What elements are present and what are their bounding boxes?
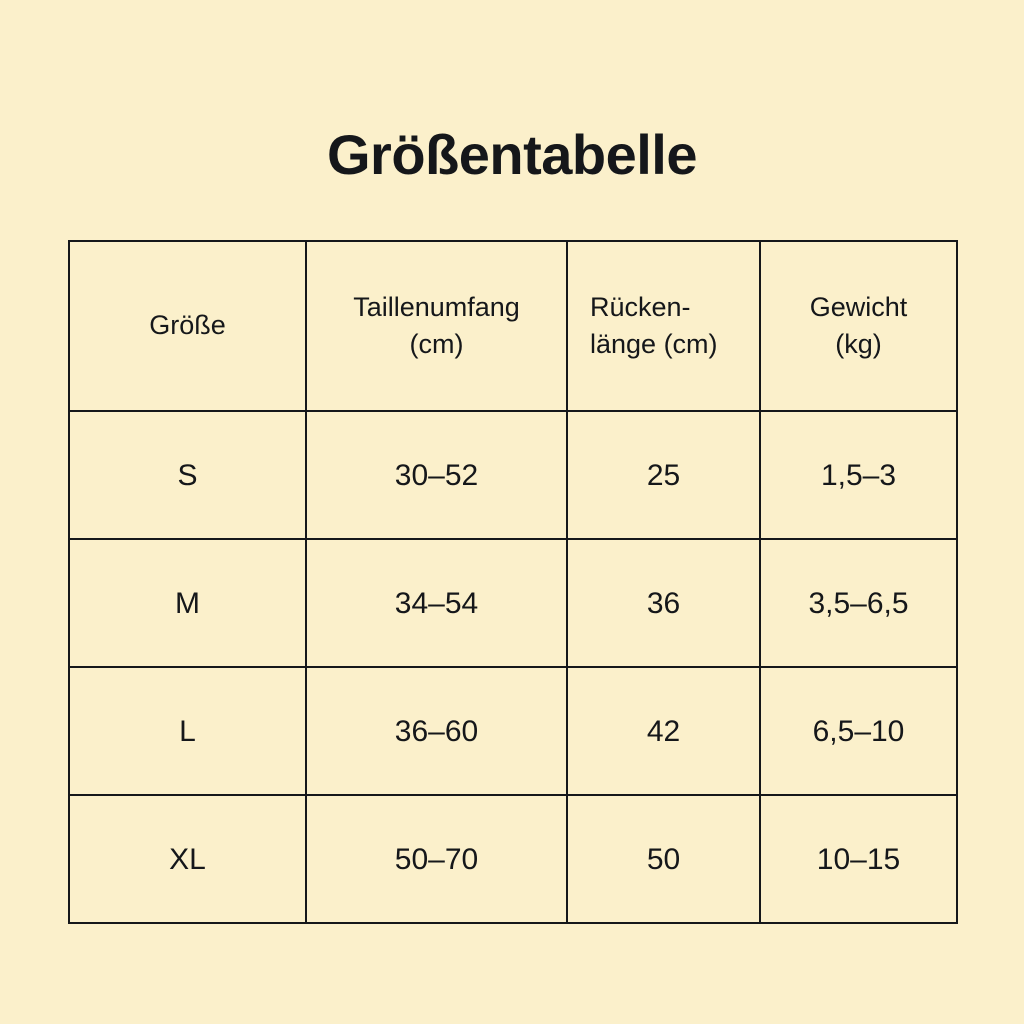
cell-size: XL bbox=[69, 795, 306, 923]
table-row: S 30–52 25 1,5–3 bbox=[69, 411, 957, 539]
cell-back-length: 50 bbox=[567, 795, 760, 923]
cell-weight: 3,5–6,5 bbox=[760, 539, 957, 667]
column-header-waist: Taillenumfang (cm) bbox=[306, 241, 567, 411]
cell-weight: 10–15 bbox=[760, 795, 957, 923]
size-chart-table: Größe Taillenumfang (cm) Rücken- länge (… bbox=[68, 240, 958, 924]
column-header-size-line1: Größe bbox=[80, 307, 295, 344]
cell-back-length: 25 bbox=[567, 411, 760, 539]
column-header-waist-line2: (cm) bbox=[317, 326, 556, 363]
cell-back-length: 42 bbox=[567, 667, 760, 795]
column-header-size: Größe bbox=[69, 241, 306, 411]
column-header-back-length-line1: Rücken- bbox=[590, 289, 749, 326]
cell-size: S bbox=[69, 411, 306, 539]
cell-waist: 50–70 bbox=[306, 795, 567, 923]
header-row: Größe Taillenumfang (cm) Rücken- länge (… bbox=[69, 241, 957, 411]
column-header-back-length-line2: länge (cm) bbox=[590, 326, 749, 363]
table-body: S 30–52 25 1,5–3 M 34–54 36 3,5–6,5 L 36… bbox=[69, 411, 957, 923]
column-header-weight: Gewicht (kg) bbox=[760, 241, 957, 411]
cell-size: M bbox=[69, 539, 306, 667]
table-row: L 36–60 42 6,5–10 bbox=[69, 667, 957, 795]
column-header-waist-line1: Taillenumfang bbox=[317, 289, 556, 326]
table-row: XL 50–70 50 10–15 bbox=[69, 795, 957, 923]
cell-size: L bbox=[69, 667, 306, 795]
size-chart-page: Größentabelle Größe Taillenumfang (cm) R… bbox=[0, 0, 1024, 1024]
page-title: Größentabelle bbox=[0, 124, 1024, 186]
column-header-weight-line1: Gewicht bbox=[771, 289, 946, 326]
table-header: Größe Taillenumfang (cm) Rücken- länge (… bbox=[69, 241, 957, 411]
column-header-back-length: Rücken- länge (cm) bbox=[567, 241, 760, 411]
cell-waist: 36–60 bbox=[306, 667, 567, 795]
table-row: M 34–54 36 3,5–6,5 bbox=[69, 539, 957, 667]
cell-weight: 6,5–10 bbox=[760, 667, 957, 795]
column-header-weight-line2: (kg) bbox=[771, 326, 946, 363]
cell-waist: 30–52 bbox=[306, 411, 567, 539]
cell-back-length: 36 bbox=[567, 539, 760, 667]
cell-waist: 34–54 bbox=[306, 539, 567, 667]
cell-weight: 1,5–3 bbox=[760, 411, 957, 539]
